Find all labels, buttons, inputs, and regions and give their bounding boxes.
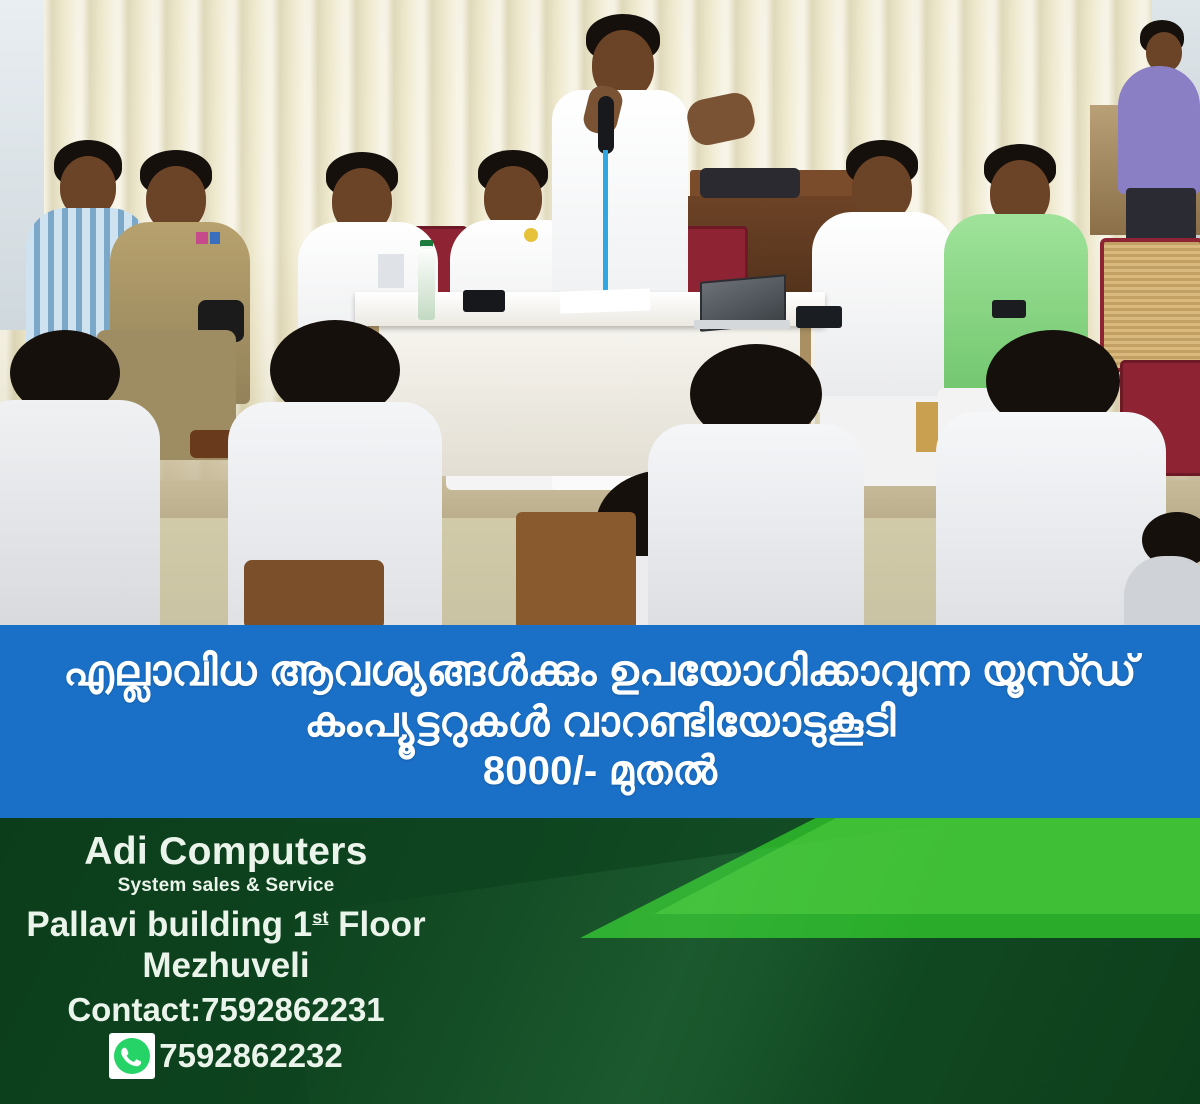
water-bottle <box>418 246 435 320</box>
laptop-base-on-table <box>694 320 790 329</box>
shop-name: Adi Computers <box>0 832 452 873</box>
paper-on-table <box>560 288 651 313</box>
whatsapp-icon[interactable] <box>109 1033 155 1079</box>
address-pre: Pallavi building 1 <box>26 905 312 944</box>
promo-line-1: എല്ലാവിധ ആവശ്യങ്ങൾക്കും ഉപയോഗിക്കാവുന്ന … <box>63 648 1136 693</box>
meeting-photograph <box>0 0 1200 625</box>
shop-footer: Adi Computers System sales & Service Pal… <box>0 818 1200 1104</box>
shop-details: Adi Computers System sales & Service Pal… <box>0 818 452 1079</box>
shop-contact-number[interactable]: Contact:7592862231 <box>0 991 452 1029</box>
wicker-chair-front <box>244 560 384 625</box>
advertisement-poster: എല്ലാവിധ ആവശ്യങ്ങൾക്കും ഉപയോഗിക്കാവുന്ന … <box>0 0 1200 1104</box>
promo-line-3: 8000/- മുതൽ <box>483 750 717 793</box>
whatsapp-number[interactable]: 7592862232 <box>159 1037 343 1075</box>
shop-tagline: System sales & Service <box>0 875 452 897</box>
chair-cane-right <box>1100 238 1200 372</box>
wicker-chair-front-2 <box>516 512 636 625</box>
mobile-phone-left <box>463 290 505 312</box>
bag-on-desk <box>700 168 800 198</box>
shop-address-line-1: Pallavi building 1st Floor <box>0 905 452 944</box>
address-post: Floor <box>328 905 425 944</box>
shop-address-line-2: Mezhuveli <box>0 946 452 985</box>
promo-banner: എല്ലാവിധ ആവശ്യങ്ങൾക്കും ഉപയോഗിക്കാവുന്ന … <box>0 625 1200 818</box>
promo-line-2: കംപ്യൂട്ടറുകൾ വാറണ്ടിയോടുകൂടി <box>304 699 895 744</box>
address-ordinal-suffix: st <box>312 907 328 927</box>
whatsapp-contact-row[interactable]: 7592862232 <box>0 1033 452 1079</box>
mobile-phone-right <box>796 306 842 328</box>
